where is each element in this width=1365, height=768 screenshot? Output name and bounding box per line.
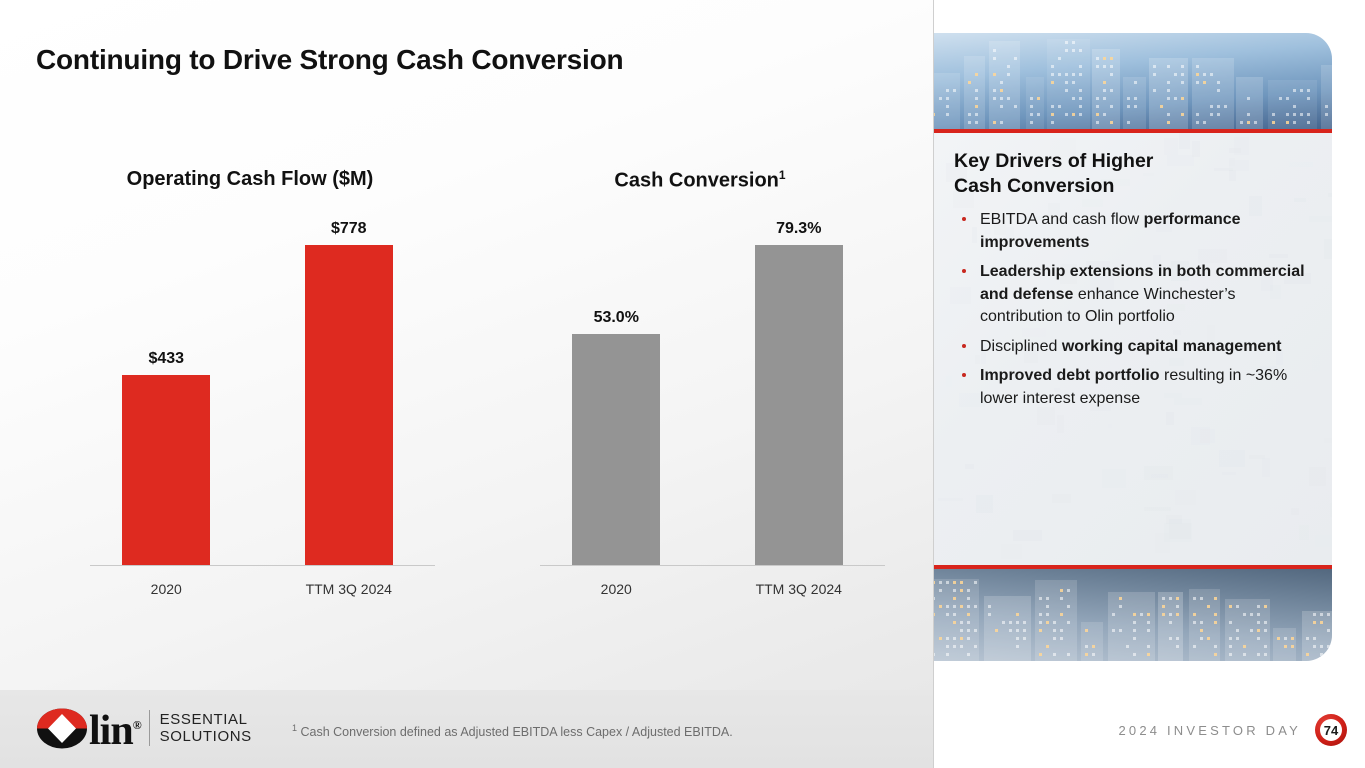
bar-column-ocf-ttm3q2024: $778 — [268, 220, 429, 565]
window-light — [1085, 629, 1088, 632]
window-light — [1327, 645, 1330, 648]
window-light — [1133, 653, 1136, 656]
window-light — [1096, 65, 1099, 68]
window-light — [1110, 73, 1113, 76]
category-label: TTM 3Q 2024 — [268, 581, 429, 597]
chart-operating-cash-flow: Operating Cash Flow ($M) $433 $778 2020 … — [30, 150, 470, 650]
window-light — [1051, 81, 1054, 84]
window-light — [953, 89, 956, 92]
window-light — [1079, 113, 1082, 116]
window-light — [1196, 121, 1199, 124]
window-light — [1174, 73, 1177, 76]
key-drivers-bullet-list: EBITDA and cash flow performance improve… — [954, 209, 1314, 410]
window-light — [975, 113, 978, 116]
bar-column-cc-ttm3q2024: 79.3% — [718, 220, 879, 565]
window-light — [1053, 621, 1056, 624]
window-light — [1060, 613, 1063, 616]
window-light — [1279, 97, 1282, 100]
window-light — [1072, 81, 1075, 84]
window-light — [1119, 629, 1122, 632]
window-light — [1065, 81, 1068, 84]
window-light — [1200, 629, 1203, 632]
window-light — [1193, 645, 1196, 648]
window-light — [946, 613, 949, 616]
window-light — [1058, 57, 1061, 60]
window-light — [1065, 73, 1068, 76]
window-light — [1162, 605, 1165, 608]
window-light — [939, 97, 942, 100]
window-light — [1112, 629, 1115, 632]
window-light — [1065, 113, 1068, 116]
bar-value-label: $433 — [148, 350, 184, 368]
window-light — [1016, 637, 1019, 640]
window-light — [1167, 121, 1170, 124]
window-light — [1060, 597, 1063, 600]
cityscape-top-art — [934, 33, 1332, 129]
window-light — [1000, 105, 1003, 108]
window-light — [1110, 89, 1113, 92]
window-light — [993, 49, 996, 52]
x-axis-line-cc — [540, 565, 885, 566]
bullet-dot-icon — [962, 217, 966, 221]
window-light — [1030, 121, 1033, 124]
window-light — [993, 121, 996, 124]
window-light — [1313, 621, 1316, 624]
window-light — [1286, 113, 1289, 116]
window-light — [1134, 105, 1137, 108]
bar-value-label: 79.3% — [776, 220, 821, 238]
window-light — [1079, 49, 1082, 52]
chart-title-text: Operating Cash Flow ($M) — [127, 168, 374, 190]
window-light — [1014, 57, 1017, 60]
window-light — [1236, 629, 1239, 632]
window-light — [953, 621, 956, 624]
window-light — [1096, 121, 1099, 124]
window-light — [1254, 121, 1257, 124]
window-light — [953, 613, 956, 616]
window-light — [1196, 81, 1199, 84]
window-light — [975, 89, 978, 92]
window-light — [1096, 113, 1099, 116]
window-light — [1300, 89, 1303, 92]
window-light — [1293, 121, 1296, 124]
window-light — [1307, 113, 1310, 116]
building-shape — [1158, 592, 1183, 661]
window-light — [1127, 105, 1130, 108]
window-light — [1243, 645, 1246, 648]
window-light — [1306, 637, 1309, 640]
window-light — [1203, 121, 1206, 124]
window-light — [1046, 621, 1049, 624]
window-light — [934, 113, 935, 116]
window-light — [974, 629, 977, 632]
key-drivers-bullet-item: EBITDA and cash flow performance improve… — [954, 209, 1314, 254]
window-light — [1096, 57, 1099, 60]
window-light — [1016, 613, 1019, 616]
window-light — [1000, 89, 1003, 92]
window-light — [1051, 113, 1054, 116]
window-light — [967, 613, 970, 616]
window-light — [1147, 629, 1150, 632]
window-light — [975, 73, 978, 76]
window-light — [1257, 613, 1260, 616]
window-light — [1067, 621, 1070, 624]
window-light — [1103, 89, 1106, 92]
window-light — [1103, 57, 1106, 60]
bullet-text-run: Improved debt portfolio — [980, 367, 1160, 384]
window-light — [1030, 105, 1033, 108]
window-light — [1103, 97, 1106, 100]
window-light — [1060, 629, 1063, 632]
window-light — [1007, 73, 1010, 76]
window-light — [1169, 637, 1172, 640]
window-light — [1229, 653, 1232, 656]
window-light — [1092, 653, 1095, 656]
window-light — [960, 605, 963, 608]
window-light — [1193, 597, 1196, 600]
window-light — [993, 73, 996, 76]
window-light — [1286, 121, 1289, 124]
window-light — [1133, 637, 1136, 640]
window-light — [1214, 597, 1217, 600]
window-light — [1110, 121, 1113, 124]
chart-plot-area-cc: 53.0% 79.3% 2020 TTM 3Q 2024 — [525, 220, 890, 610]
window-light — [1200, 597, 1203, 600]
window-light — [1250, 613, 1253, 616]
window-light — [1046, 645, 1049, 648]
window-light — [1162, 613, 1165, 616]
window-light — [968, 81, 971, 84]
x-axis-line-ocf — [90, 565, 435, 566]
window-light — [1277, 637, 1280, 640]
key-drivers-content: Key Drivers of Higher Cash Conversion EB… — [934, 133, 1332, 565]
window-light — [1133, 613, 1136, 616]
window-light — [1126, 645, 1129, 648]
window-light — [1264, 645, 1267, 648]
window-light — [1214, 621, 1217, 624]
window-light — [1127, 97, 1130, 100]
window-light — [1320, 645, 1323, 648]
window-light — [1217, 105, 1220, 108]
window-light — [946, 653, 949, 656]
window-light — [1293, 105, 1296, 108]
window-light — [1167, 97, 1170, 100]
window-light — [1229, 605, 1232, 608]
window-light — [1072, 97, 1075, 100]
bar-group-cc: 53.0% 79.3% — [525, 220, 890, 565]
window-light — [1039, 653, 1042, 656]
category-labels-ocf: 2020 TTM 3Q 2024 — [75, 576, 440, 602]
window-light — [946, 605, 949, 608]
olin-o-icon — [36, 708, 88, 749]
bullet-text-run: EBITDA and cash flow — [980, 211, 1144, 228]
window-light — [1247, 113, 1250, 116]
window-light — [1153, 89, 1156, 92]
cityscape-bottom-art — [934, 569, 1332, 661]
key-drivers-bullet-item: Leadership extensions in both commercial… — [954, 261, 1314, 329]
bar-column-ocf-2020: $433 — [86, 220, 247, 565]
bar-ocf-ttm3q2024 — [305, 245, 393, 565]
window-light — [1160, 105, 1163, 108]
window-light — [1264, 629, 1267, 632]
key-drivers-heading-line-2: Cash Conversion — [954, 174, 1314, 199]
bullet-text-run: working capital management — [1062, 338, 1282, 355]
window-light — [1016, 645, 1019, 648]
window-light — [1169, 597, 1172, 600]
window-light — [967, 621, 970, 624]
window-light — [1023, 629, 1026, 632]
window-light — [1193, 621, 1196, 624]
window-light — [1039, 613, 1042, 616]
window-light — [1207, 605, 1210, 608]
olin-logo: lin® ESSENTIAL SOLUTIONS — [36, 706, 252, 750]
window-light — [953, 637, 956, 640]
bar-value-label: 53.0% — [594, 309, 639, 327]
window-light — [1203, 73, 1206, 76]
slide-left-content: Continuing to Drive Strong Cash Conversi… — [0, 0, 934, 768]
tagline-line-1: ESSENTIAL — [160, 711, 252, 728]
building-shape — [934, 73, 960, 129]
window-light — [1320, 621, 1323, 624]
window-light — [1002, 621, 1005, 624]
window-light — [1250, 629, 1253, 632]
event-label: 2024 INVESTOR DAY — [1118, 723, 1301, 738]
window-light — [1236, 605, 1239, 608]
window-light — [1196, 65, 1199, 68]
bar-value-label: $778 — [331, 220, 367, 238]
window-light — [1110, 57, 1113, 60]
chart-title-footnote-marker: 1 — [779, 168, 786, 182]
window-light — [1046, 605, 1049, 608]
window-light — [1217, 81, 1220, 84]
window-light — [1030, 113, 1033, 116]
category-label: 2020 — [86, 581, 247, 597]
window-light — [1023, 637, 1026, 640]
window-light — [1217, 89, 1220, 92]
window-light — [1051, 73, 1054, 76]
window-light — [946, 581, 949, 584]
window-light — [1153, 73, 1156, 76]
chart-title-text: Cash Conversion — [614, 170, 778, 192]
window-light — [939, 605, 942, 608]
window-light — [1037, 97, 1040, 100]
window-light — [1247, 97, 1250, 100]
window-light — [967, 597, 970, 600]
window-light — [1067, 589, 1070, 592]
window-light — [1240, 121, 1243, 124]
window-light — [1257, 605, 1260, 608]
window-light — [1176, 613, 1179, 616]
window-light — [1307, 97, 1310, 100]
window-light — [1229, 645, 1232, 648]
window-light — [946, 89, 949, 92]
window-light — [1264, 605, 1267, 608]
window-light — [946, 637, 949, 640]
window-light — [1103, 81, 1106, 84]
window-light — [960, 645, 963, 648]
window-light — [975, 97, 978, 100]
window-light — [968, 121, 971, 124]
window-light — [1110, 105, 1113, 108]
window-light — [1210, 113, 1213, 116]
window-light — [1286, 97, 1289, 100]
window-light — [1325, 105, 1328, 108]
window-light — [1014, 105, 1017, 108]
window-light — [1181, 73, 1184, 76]
bullet-dot-icon — [962, 373, 966, 377]
window-light — [1167, 113, 1170, 116]
window-light — [1103, 65, 1106, 68]
window-light — [1257, 629, 1260, 632]
bar-cc-2020 — [572, 334, 660, 565]
window-light — [1065, 89, 1068, 92]
cityscape-photo-bottom — [934, 569, 1332, 661]
window-light — [1058, 105, 1061, 108]
window-light — [960, 621, 963, 624]
building-shape — [1026, 77, 1044, 129]
window-light — [1007, 65, 1010, 68]
window-light — [1181, 81, 1184, 84]
window-light — [975, 121, 978, 124]
bar-cc-ttm3q2024 — [755, 245, 843, 565]
window-light — [1051, 105, 1054, 108]
window-light — [1247, 121, 1250, 124]
window-light — [993, 89, 996, 92]
window-light — [1072, 41, 1075, 44]
slide-right-panel: Key Drivers of Higher Cash Conversion EB… — [934, 0, 1365, 768]
window-light — [960, 589, 963, 592]
window-light — [960, 629, 963, 632]
window-light — [1072, 49, 1075, 52]
window-light — [939, 589, 942, 592]
window-light — [993, 57, 996, 60]
window-light — [934, 581, 935, 584]
window-light — [1217, 113, 1220, 116]
window-light — [1196, 113, 1199, 116]
page-title: Continuing to Drive Strong Cash Conversi… — [36, 44, 623, 76]
page-number-badge: 74 — [1315, 714, 1347, 746]
window-light — [1060, 589, 1063, 592]
window-light — [1196, 73, 1199, 76]
window-light — [1039, 629, 1042, 632]
window-light — [1079, 73, 1082, 76]
window-light — [934, 653, 935, 656]
window-light — [1065, 49, 1068, 52]
building-shape — [1149, 58, 1188, 129]
key-drivers-body: Key Drivers of Higher Cash Conversion EB… — [934, 133, 1332, 565]
window-light — [1167, 89, 1170, 92]
window-light — [968, 113, 971, 116]
window-light — [1072, 113, 1075, 116]
footnote: 1 Cash Conversion defined as Adjusted EB… — [292, 723, 733, 739]
olin-logo-mark-icon — [36, 708, 88, 749]
window-light — [946, 113, 949, 116]
window-light — [1243, 653, 1246, 656]
window-light — [1264, 653, 1267, 656]
category-labels-cc: 2020 TTM 3Q 2024 — [525, 576, 890, 602]
window-light — [1291, 645, 1294, 648]
building-shape — [1108, 592, 1155, 661]
window-light — [1176, 597, 1179, 600]
window-light — [967, 605, 970, 608]
window-light — [967, 637, 970, 640]
window-light — [974, 605, 977, 608]
category-label: 2020 — [536, 581, 697, 597]
window-light — [946, 105, 949, 108]
building-shape — [989, 41, 1020, 129]
chart-cash-conversion: Cash Conversion1 53.0% 79.3% 2020 TTM 3Q… — [480, 150, 920, 650]
slide-footer-right: 2024 INVESTOR DAY 74 — [1118, 710, 1347, 750]
window-light — [1009, 629, 1012, 632]
window-light — [1313, 637, 1316, 640]
window-light — [1058, 73, 1061, 76]
window-light — [974, 581, 977, 584]
window-light — [1257, 653, 1260, 656]
window-light — [960, 581, 963, 584]
window-light — [1133, 621, 1136, 624]
window-light — [1096, 97, 1099, 100]
key-drivers-heading-line-1: Key Drivers of Higher — [954, 149, 1314, 174]
window-light — [1000, 121, 1003, 124]
window-light — [1079, 89, 1082, 92]
window-light — [1053, 653, 1056, 656]
window-light — [1072, 73, 1075, 76]
window-light — [1039, 597, 1042, 600]
window-light — [1007, 97, 1010, 100]
window-light — [1016, 621, 1019, 624]
window-light — [1067, 653, 1070, 656]
category-label: TTM 3Q 2024 — [718, 581, 879, 597]
window-light — [1016, 629, 1019, 632]
window-light — [1307, 121, 1310, 124]
window-light — [1181, 97, 1184, 100]
window-light — [1236, 637, 1239, 640]
window-light — [1000, 81, 1003, 84]
window-light — [1092, 645, 1095, 648]
window-light — [988, 605, 991, 608]
cityscape-photo-top — [934, 33, 1332, 129]
window-light — [1210, 73, 1213, 76]
window-light — [974, 645, 977, 648]
window-light — [1203, 81, 1206, 84]
registered-mark-icon: ® — [133, 718, 141, 732]
window-light — [1320, 653, 1323, 656]
window-light — [1181, 113, 1184, 116]
window-light — [1272, 121, 1275, 124]
window-light — [1243, 613, 1246, 616]
window-light — [953, 581, 956, 584]
key-drivers-bullet-item: Improved debt portfolio resulting in ~36… — [954, 365, 1314, 410]
window-light — [934, 597, 935, 600]
window-light — [967, 629, 970, 632]
window-light — [1023, 621, 1026, 624]
window-light — [1147, 621, 1150, 624]
window-light — [1134, 97, 1137, 100]
window-light — [1112, 613, 1115, 616]
window-light — [1119, 597, 1122, 600]
window-light — [1174, 97, 1177, 100]
window-light — [953, 645, 956, 648]
window-light — [1051, 121, 1054, 124]
window-light — [1210, 105, 1213, 108]
building-shape — [1321, 65, 1332, 129]
window-light — [1051, 65, 1054, 68]
window-light — [1053, 629, 1056, 632]
window-light — [1060, 637, 1063, 640]
window-light — [946, 645, 949, 648]
window-light — [995, 629, 998, 632]
chart-plot-area-ocf: $433 $778 2020 TTM 3Q 2024 — [75, 220, 440, 610]
